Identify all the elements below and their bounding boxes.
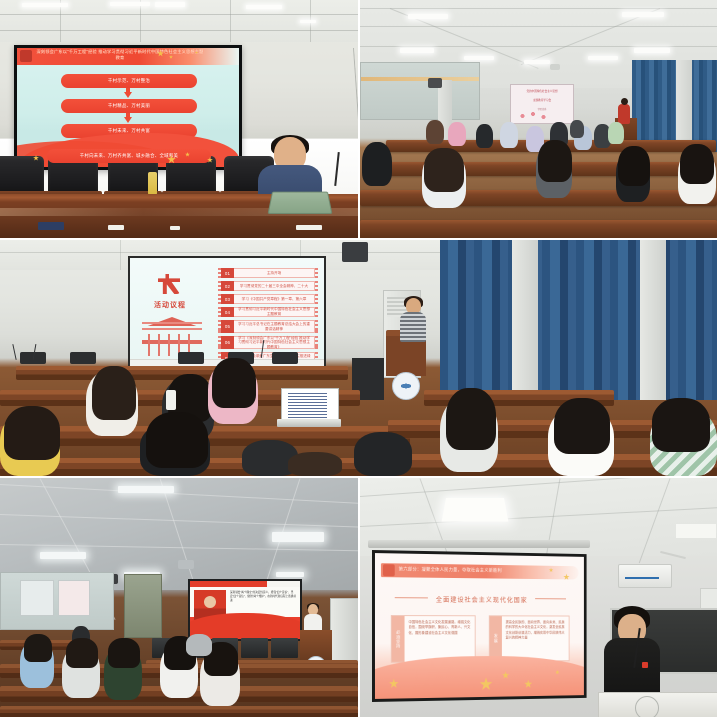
card-tag: 必须坚持 [392, 616, 405, 662]
student-figure [288, 452, 342, 476]
agenda-row: 06 学习《深刻领会广东以"千万工程"经验 推动学习贯彻习近平新时代中国特色社会… [218, 336, 318, 349]
slide-title: 活动议程 [146, 300, 194, 310]
agenda-row: 03 学习《中国共产党章程》第一章、第六章 [218, 294, 318, 304]
university-seal [635, 696, 659, 717]
wall-speaker [342, 242, 368, 262]
slide-middle: 活动议程 01 主持开场 02 学习贯彻党的二十届三中全会精神、二十大 [130, 258, 324, 366]
window [360, 62, 480, 120]
torso [604, 638, 660, 698]
section-title-text: 全面建设社会主义现代化国家 [436, 593, 528, 603]
flow-arrow-icon [124, 92, 132, 98]
slide-section-heading: 全面建设社会主义现代化国家 [405, 591, 557, 605]
wall-pillar [640, 240, 666, 400]
laptop-screen [281, 388, 339, 422]
desk-monitor [271, 638, 298, 658]
air-conditioner [330, 598, 358, 664]
ceiling-light [400, 48, 434, 53]
card-text: 中国特色社会主义文化发展道路，增强文化自信，围绕举旗帜、聚民心、育新人、兴文化、… [405, 616, 475, 662]
ceiling-light [442, 498, 509, 521]
rule-right [535, 598, 566, 599]
student-hair [554, 398, 610, 454]
screen-roller-bar [368, 540, 590, 548]
door [124, 574, 162, 638]
flow-arrow-icon [124, 117, 132, 123]
agenda-number: 05 [221, 320, 234, 333]
agenda-number: 01 [221, 268, 234, 278]
agenda-row: 05 学习习近平总书记在主题教育总结大会上的重要讲话精神 [218, 320, 318, 333]
agenda-text: 学习贯彻党的二十届三中全会精神、二十大 [234, 281, 315, 291]
student-figure [608, 122, 624, 144]
ceiling-light [246, 5, 282, 9]
photo-panel-middle: 活动议程 01 主持开场 02 学习贯彻党的二十届三中全会精神、二十大 [0, 240, 717, 476]
paper-sheet [170, 226, 180, 230]
curtain [440, 240, 717, 400]
bench-desk [0, 706, 358, 717]
laptop-keyboard [277, 419, 341, 427]
party-emblem-icon [383, 564, 395, 576]
notebook [38, 222, 64, 230]
party-emblem-icon [158, 274, 180, 294]
student-figure [362, 142, 392, 186]
wall-pillar [512, 240, 538, 400]
row-tick [315, 320, 318, 333]
ceiling-light [276, 572, 304, 577]
lectern [598, 692, 717, 717]
student-figure [186, 634, 212, 656]
thermos-cup [166, 390, 176, 410]
ceiling-grid-line [230, 0, 231, 42]
slide-body-text: 深刻领会"两个确立"的决定性意义，增强"四个意识"、坚定"四个自信"、做到"两个… [230, 591, 296, 603]
student-hair [24, 634, 52, 662]
ceiling-light [40, 552, 86, 559]
photo-collage: 深刻领会广东以"千万工程"经验 推动学习贯彻习近平新时代中国特色社会主义思想主题… [0, 0, 717, 717]
slide-card: 发展 提高全民族的、面向世界、面向未来、民族的科学的大众化社会主义文化，激发全民… [489, 615, 570, 662]
wall-pillar [676, 60, 692, 152]
projection-screen: 深刻领会"两个确立"的决定性意义，增强"四个意识"、坚定"四个自信"、做到"两个… [188, 579, 302, 641]
bulletin-board [20, 580, 54, 616]
projection-screen: 党的中国特色社会主义思想 主题教育学习会 学院党委 [510, 84, 574, 124]
agenda-text: 学习贯彻习近平新时代中国特色社会主义思想主题教育 [234, 307, 315, 317]
bench-desk [360, 220, 717, 238]
projection-screen: 第六部分：凝聚全体人民力量，夺取社会主义新胜利 全面建设社会主义现代化国家 必须… [372, 550, 587, 702]
student-hair [66, 638, 98, 668]
photo-panel-top-left: 深刻领会广东以"千万工程"经验 推动学习贯彻习近平新时代中国特色社会主义思想主题… [0, 0, 358, 238]
row-tick [315, 281, 318, 291]
ceiling-grid-line [120, 240, 121, 270]
paper-sheet [296, 225, 322, 230]
slide-banner-text: 深刻领会广东以"千万工程"经验 推动学习贯彻习近平新时代中国特色社会主义思想主题… [35, 49, 205, 62]
slide-banner [190, 581, 300, 587]
paper-sheet [108, 225, 124, 230]
student-hair [618, 146, 650, 186]
student-hair [212, 358, 256, 408]
ceiling-light [622, 12, 664, 17]
ceiling-light [676, 524, 716, 538]
ceiling-light [272, 532, 324, 542]
projector [618, 564, 672, 588]
student-hair [652, 398, 710, 452]
ceiling-grid-line [140, 0, 141, 42]
slide-banner-text: 第六部分：凝聚全体人民力量，夺取社会主义新胜利 [399, 566, 528, 574]
student-figure [426, 120, 444, 144]
presenter-figure [604, 606, 660, 698]
agenda-text: 学习《深刻领会广东以"千万工程"经验 推动学习贯彻习近平新时代中国特色社会主义思… [234, 336, 315, 349]
student-hair [538, 140, 572, 182]
wall-speaker [428, 78, 442, 88]
row-tick [315, 336, 318, 349]
slide-top-left: 深刻领会广东以"千万工程"经验 推动学习贯彻习近平新时代中国特色社会主义思想主题… [17, 48, 239, 167]
projector [550, 64, 560, 70]
student-hair [146, 412, 208, 468]
agenda-row: 01 主持开场 [218, 268, 318, 278]
photo-panel-bottom-right: 第六部分：凝聚全体人民力量，夺取社会主义新胜利 全面建设社会主义现代化国家 必须… [360, 478, 717, 717]
student-hair [680, 144, 714, 184]
student-figure [448, 122, 466, 146]
water-bottle [148, 172, 157, 196]
agenda-row: 02 学习贯彻党的二十届三中全会精神、二十大 [218, 281, 318, 291]
bulletin-board [58, 580, 90, 616]
ceiling-grid-line [360, 8, 717, 9]
speaker-figure [400, 298, 426, 342]
card-text: 提高全民族的、面向世界、面向未来、民族的科学的大众化社会主义文化，激发全民族文化… [502, 616, 569, 661]
ceiling-light [118, 486, 174, 493]
student-hair [92, 366, 136, 420]
student-hair [424, 148, 464, 192]
ceiling-light [524, 60, 550, 64]
student-figure [476, 124, 493, 148]
slide-title-line2: 主题教育学习会 [515, 99, 569, 103]
student-figure [570, 120, 584, 138]
hall-column [158, 334, 160, 356]
laptop [268, 192, 333, 214]
student-figure [354, 432, 412, 476]
agenda-text: 主持开场 [234, 268, 315, 278]
agenda-number: 04 [221, 307, 234, 317]
conference-chair [0, 156, 44, 194]
row-tick [315, 294, 318, 304]
plum-blossom-decoration [514, 110, 556, 120]
ceiling-grid-line [360, 26, 717, 27]
rule-left [395, 597, 428, 598]
student-hair [4, 406, 60, 460]
card-tag: 发展 [490, 616, 502, 661]
agenda-number: 02 [221, 281, 234, 291]
student-figure [500, 122, 518, 148]
ceiling-light [408, 14, 448, 19]
great-hall-illustration [142, 314, 202, 356]
agenda-number: 03 [221, 294, 234, 304]
photo-panel-top-right: 党的中国特色社会主义思想 主题教育学习会 学院党委 [360, 0, 717, 238]
agenda-row: 04 学习贯彻习近平新时代中国特色社会主义思想主题教育 [218, 307, 318, 317]
slide-step-box: 千村示范、万村整治 [61, 74, 197, 88]
ceiling-light [300, 20, 316, 23]
ceiling-light [588, 56, 618, 60]
student-hair [446, 388, 496, 450]
hall-column [168, 334, 170, 356]
ceiling-light [22, 3, 68, 7]
desk-monitor [241, 638, 268, 658]
podium-emblem [392, 372, 420, 400]
slide-decor-wave [375, 655, 584, 699]
student-hair [108, 638, 140, 668]
hall-column [148, 334, 150, 356]
speaker-figure [618, 104, 630, 124]
torso [400, 312, 426, 342]
agenda-text: 学习《中国共产党章程》第一章、第六章 [234, 294, 315, 304]
desk-monitor [70, 352, 96, 364]
ceiling-light [155, 2, 185, 7]
ceiling-grid-line [360, 46, 717, 47]
photo-panel-bottom-left: 深刻领会"两个确立"的决定性意义，增强"四个意识"、坚定"四个自信"、做到"两个… [0, 478, 358, 717]
laptop [277, 388, 341, 430]
slide-step-box: 千村精品、万村美丽 [61, 99, 197, 113]
window [0, 572, 114, 630]
slide-banner: 第六部分：凝聚全体人民力量，夺取社会主义新胜利 [381, 563, 579, 579]
slide-bottom-left: 深刻领会"两个确立"的决定性意义，增强"四个意识"、坚定"四个自信"、做到"两个… [190, 581, 300, 639]
desk-monitor [178, 352, 204, 364]
desk-monitor [272, 352, 298, 364]
ceiling-light [110, 2, 150, 6]
curtain [690, 60, 717, 152]
party-emblem-icon [20, 50, 32, 62]
slide-title-line1: 党的中国特色社会主义思想 [515, 90, 569, 94]
agenda-number: 06 [221, 336, 234, 349]
projector [178, 560, 194, 569]
row-tick [315, 307, 318, 317]
slide-bottom-right: 第六部分：凝聚全体人民力量，夺取社会主义新胜利 全面建设社会主义现代化国家 必须… [375, 553, 584, 699]
ceiling-light [634, 48, 670, 53]
projection-screen: 深刻领会广东以"千万工程"经验 推动学习贯彻习近平新时代中国特色社会主义思想主题… [14, 45, 242, 170]
ceiling-light [464, 56, 494, 60]
agenda-text: 学习习近平总书记在主题教育总结大会上的重要讲话精神 [234, 320, 315, 333]
party-badge [642, 662, 648, 668]
row-tick [315, 268, 318, 278]
